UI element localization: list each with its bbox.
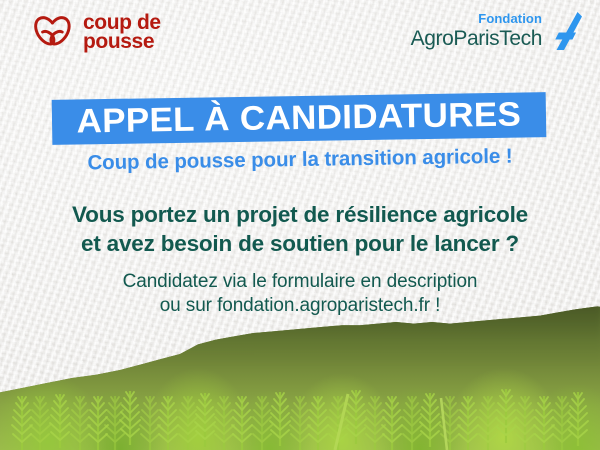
agroparistech-name: AgroParisTech bbox=[411, 27, 542, 50]
headline-line-2: et avez besoin de soutien pour le lancer… bbox=[0, 229, 600, 258]
agroparistech-fondation-logo: Fondation AgroParisTech bbox=[411, 10, 584, 50]
fondation-label: Fondation bbox=[411, 12, 542, 26]
poster-canvas: coup de pousse Fondation AgroParisTech A… bbox=[0, 0, 600, 450]
poster-call-to-action: Candidatez via le formulaire en descript… bbox=[0, 270, 600, 318]
poster-headline: Vous portez un projet de résilience agri… bbox=[0, 200, 600, 258]
coup-de-pousse-wordmark: coup de pousse bbox=[83, 13, 161, 51]
banner-title: APPEL À CANDIDATURES bbox=[76, 96, 521, 142]
call-for-applications-banner: APPEL À CANDIDATURES bbox=[52, 92, 547, 145]
agroparistech-wordmark: Fondation AgroParisTech bbox=[411, 12, 542, 50]
a-arrow-mark-icon bbox=[546, 10, 584, 52]
cta-line-2: ou sur fondation.agroparistech.fr ! bbox=[0, 294, 600, 318]
headline-line-1: Vous portez un projet de résilience agri… bbox=[0, 200, 600, 229]
cta-line-1: Candidatez via le formulaire en descript… bbox=[0, 270, 600, 294]
two-leaves-heart-icon bbox=[31, 13, 74, 51]
coup-de-pousse-logo: coup de pousse bbox=[31, 13, 161, 51]
logo-line-2: pousse bbox=[83, 32, 161, 51]
